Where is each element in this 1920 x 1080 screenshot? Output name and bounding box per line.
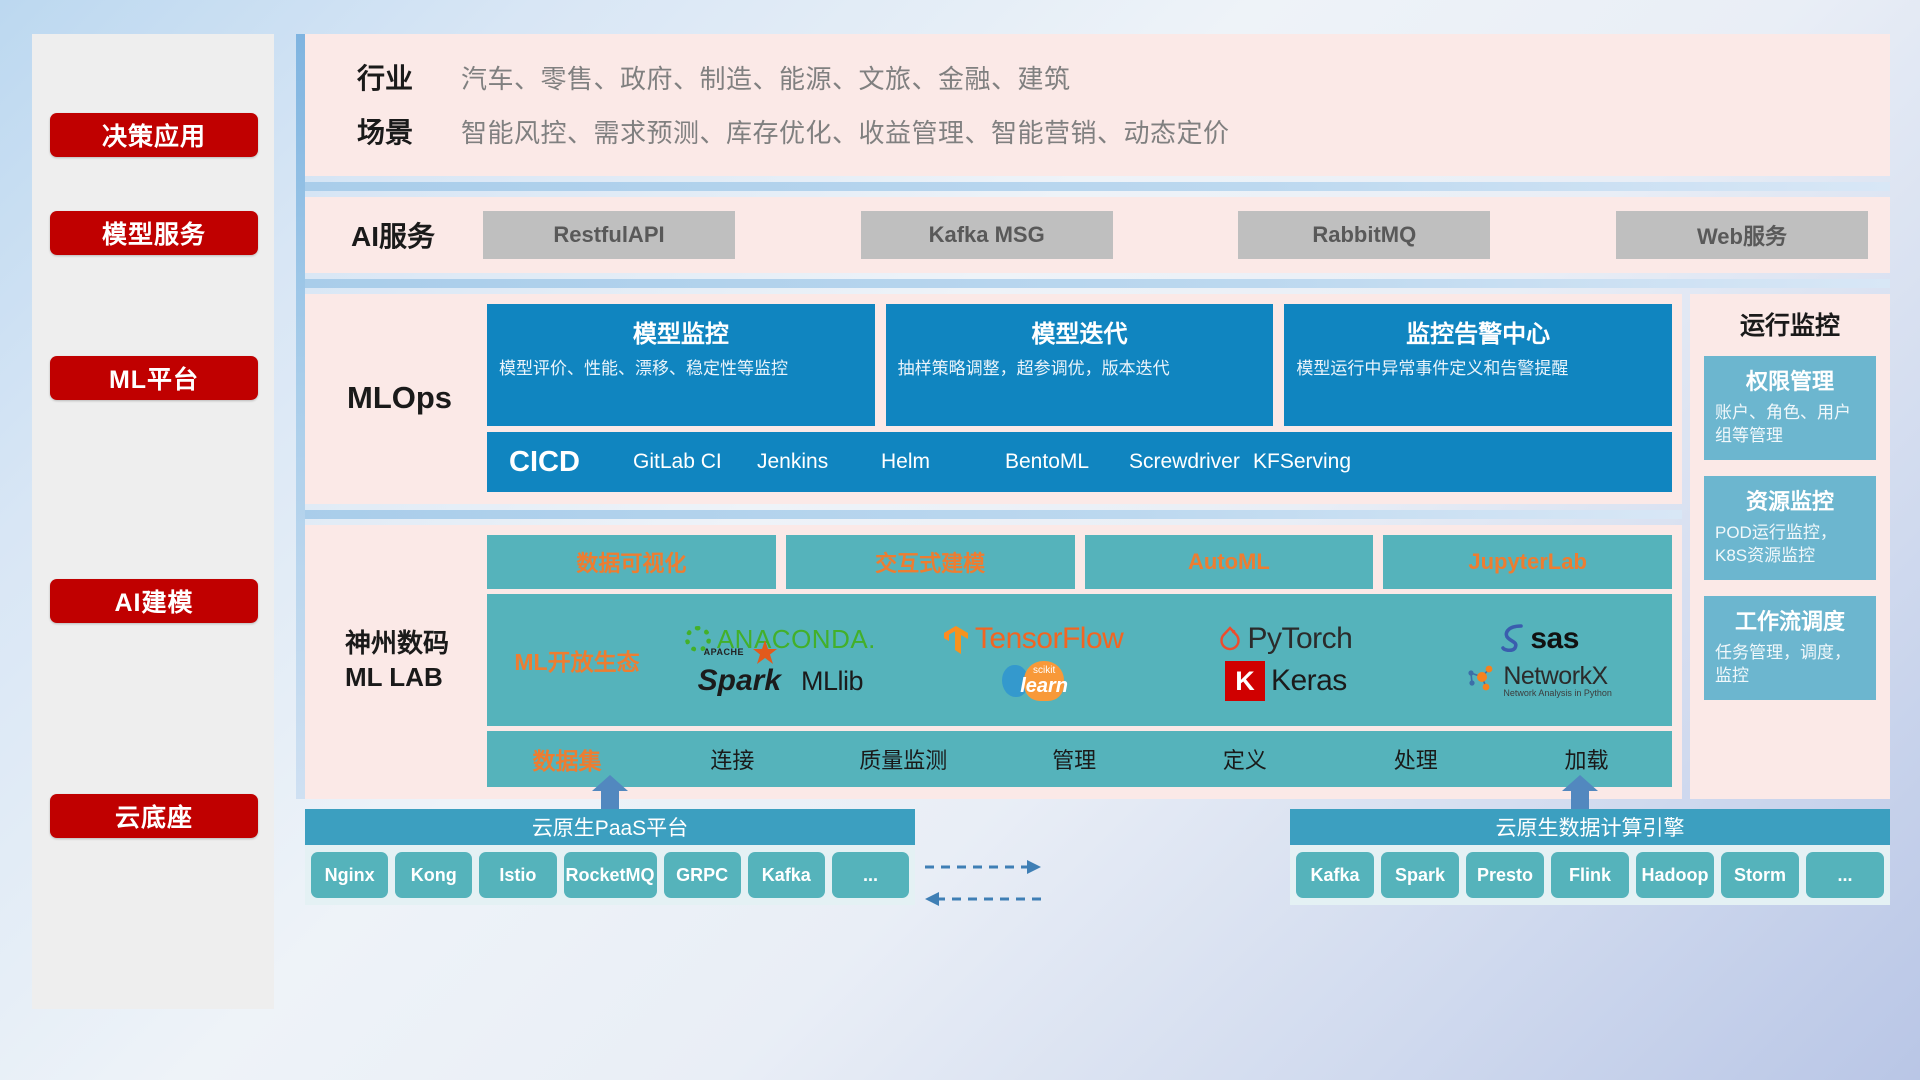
dataset-item-load[interactable]: 加载 bbox=[1501, 743, 1672, 775]
dataset-title: 数据集 bbox=[487, 742, 647, 776]
mlops-card-model-monitor[interactable]: 模型监控 模型评价、性能、漂移、稳定性等监控 bbox=[487, 304, 875, 426]
infrastructure-row: 云原生PaaS平台 Nginx Kong Istio RocketMQ GRPC… bbox=[305, 809, 1890, 944]
mlops-band: MLOps 模型监控 模型评价、性能、漂移、稳定性等监控 模型迭代 抽样 bbox=[305, 294, 1682, 504]
engine-chip-storm[interactable]: Storm bbox=[1721, 852, 1799, 898]
cicd-item-screwdriver[interactable]: Screwdriver bbox=[1129, 450, 1253, 473]
keras-letter-text: K bbox=[1235, 666, 1255, 697]
tensorflow-logo-text: TensorFlow bbox=[975, 622, 1123, 656]
service-chip-web[interactable]: Web服务 bbox=[1616, 211, 1868, 259]
paas-chip-nginx[interactable]: Nginx bbox=[311, 852, 388, 898]
engine-chip-kafka[interactable]: Kafka bbox=[1296, 852, 1374, 898]
networkx-subtitle: Network Analysis in Python bbox=[1503, 689, 1612, 698]
paas-chip-kafka[interactable]: Kafka bbox=[748, 852, 825, 898]
card-desc: 账户、角色、用户组等管理 bbox=[1715, 402, 1865, 448]
ai-service-label: AI服务 bbox=[327, 215, 483, 255]
spark-word-text: Spark bbox=[698, 664, 781, 697]
dataset-item-define[interactable]: 定义 bbox=[1159, 743, 1330, 775]
networkx-logo: NetworkX Network Analysis in Python bbox=[1465, 664, 1612, 699]
card-desc: POD运行监控，K8S资源监控 bbox=[1715, 522, 1865, 568]
tab-automl[interactable]: AutoML bbox=[1085, 535, 1374, 589]
engine-chip-flink[interactable]: Flink bbox=[1551, 852, 1629, 898]
card-title: 工作流调度 bbox=[1715, 604, 1865, 636]
tensorflow-logo: TensorFlow bbox=[943, 622, 1123, 656]
tensorflow-mark-icon bbox=[943, 625, 969, 653]
application-rows: 行业 汽车、零售、政府、制造、能源、文旅、金融、建筑 场景 智能风控、需求预测、… bbox=[331, 50, 1864, 158]
card-desc: 抽样策略调整，超参调优，版本迭代 bbox=[898, 357, 1262, 380]
paas-chips: Nginx Kong Istio RocketMQ GRPC Kafka ... bbox=[305, 845, 915, 905]
rail-item-label: 决策应用 bbox=[102, 117, 206, 153]
operations-monitor-title: 运行监控 bbox=[1704, 306, 1876, 342]
cicd-row: CICD GitLab CI Jenkins Helm BentoML Scre… bbox=[487, 432, 1672, 492]
ml-lab-tabs: 数据可视化 交互式建模 AutoML JupyterLab bbox=[487, 535, 1672, 589]
dataset-item-manage[interactable]: 管理 bbox=[989, 743, 1160, 775]
card-title: 模型迭代 bbox=[898, 314, 1262, 349]
service-chip-restful[interactable]: RestfulAPI bbox=[483, 211, 735, 259]
mlops-content: 模型监控 模型评价、性能、漂移、稳定性等监控 模型迭代 抽样策略调整，超参调优，… bbox=[487, 304, 1672, 492]
spark-star-icon: APACHE Spark bbox=[698, 664, 781, 698]
ml-lab-label-line2: ML LAB bbox=[345, 662, 443, 692]
paas-chip-rocketmq[interactable]: RocketMQ bbox=[564, 852, 657, 898]
bidirectional-dashed-arrows-icon bbox=[923, 853, 1043, 913]
keras-k-icon: K bbox=[1225, 661, 1265, 701]
cicd-items: GitLab CI Jenkins Helm BentoML Screwdriv… bbox=[633, 450, 1672, 473]
card-desc: 模型运行中异常事件定义和告警提醒 bbox=[1296, 357, 1660, 380]
mlops-label: MLOps bbox=[347, 380, 452, 416]
rail-item-ml-platform[interactable]: ML平台 bbox=[50, 356, 258, 400]
pytorch-logo-text: PyTorch bbox=[1247, 622, 1352, 656]
mlops-card-model-iteration[interactable]: 模型迭代 抽样策略调整，超参调优，版本迭代 bbox=[886, 304, 1274, 426]
paas-up-arrow-icon bbox=[590, 775, 630, 809]
engine-chip-spark[interactable]: Spark bbox=[1381, 852, 1459, 898]
networkx-graph-icon bbox=[1465, 664, 1497, 699]
tab-interactive-modeling[interactable]: 交互式建模 bbox=[786, 535, 1075, 589]
scenario-row: 场景 智能风控、需求预测、库存优化、收益管理、智能营销、动态定价 bbox=[331, 104, 1864, 158]
spark-apache-text: APACHE bbox=[704, 647, 744, 657]
paas-block: 云原生PaaS平台 Nginx Kong Istio RocketMQ GRPC… bbox=[305, 809, 915, 905]
layer-rail: 决策应用 模型服务 ML平台 AI建模 云底座 bbox=[32, 34, 274, 1009]
engine-chip-hadoop[interactable]: Hadoop bbox=[1636, 852, 1714, 898]
mlops-card-alert-center[interactable]: 监控告警中心 模型运行中异常事件定义和告警提醒 bbox=[1284, 304, 1672, 426]
ml-lab-label: 神州数码ML LAB bbox=[345, 627, 449, 695]
data-engine-block: 云原生数据计算引擎 Kafka Spark Presto Flink Hadoo… bbox=[1290, 809, 1890, 905]
data-engine-up-arrow-icon bbox=[1560, 775, 1600, 809]
dataset-item-process[interactable]: 处理 bbox=[1330, 743, 1501, 775]
monitor-card-permission[interactable]: 权限管理 账户、角色、用户组等管理 bbox=[1704, 356, 1876, 460]
ml-lab-label-line1: 神州数码 bbox=[345, 628, 449, 658]
pytorch-flame-icon bbox=[1219, 626, 1241, 652]
sas-logo-text: sas bbox=[1530, 622, 1579, 656]
rail-item-cloud-base[interactable]: 云底座 bbox=[50, 794, 258, 838]
ml-lab-label-wrap: 神州数码ML LAB bbox=[327, 535, 487, 787]
ml-lab-band: 神州数码ML LAB 数据可视化 交互式建模 AutoML JupyterLab… bbox=[305, 525, 1682, 799]
scenario-value: 智能风控、需求预测、库存优化、收益管理、智能营销、动态定价 bbox=[461, 113, 1230, 150]
main-column: 行业 汽车、零售、政府、制造、能源、文旅、金融、建筑 场景 智能风控、需求预测、… bbox=[296, 34, 1890, 1040]
monitor-card-resource[interactable]: 资源监控 POD运行监控，K8S资源监控 bbox=[1704, 476, 1876, 580]
card-title: 资源监控 bbox=[1715, 484, 1865, 516]
engine-chip-more[interactable]: ... bbox=[1806, 852, 1884, 898]
scikit-learn-mark-icon: scikit learn bbox=[1024, 661, 1064, 701]
mllib-word-text: MLlib bbox=[801, 666, 863, 697]
scikit-learn-logo: scikit learn bbox=[1002, 661, 1064, 701]
paas-chip-kong[interactable]: Kong bbox=[395, 852, 472, 898]
ml-ecosystem-logos: ANACONDA. TensorFlow bbox=[657, 619, 1662, 701]
monitor-card-workflow[interactable]: 工作流调度 任务管理，调度，监控 bbox=[1704, 596, 1876, 700]
dataset-row: 数据集 连接 质量监测 管理 定义 处理 加载 bbox=[487, 731, 1672, 787]
industry-label: 行业 bbox=[331, 57, 461, 97]
learn-word-text: learn bbox=[1020, 676, 1068, 696]
band-divider bbox=[305, 279, 1890, 288]
rail-item-label: ML平台 bbox=[109, 360, 199, 396]
scenario-label: 场景 bbox=[331, 111, 461, 151]
ai-service-items: RestfulAPI Kafka MSG RabbitMQ Web服务 bbox=[483, 211, 1868, 259]
data-engine-chips: Kafka Spark Presto Flink Hadoop Storm ..… bbox=[1290, 845, 1890, 905]
card-title: 模型监控 bbox=[499, 314, 863, 349]
cicd-item-jenkins[interactable]: Jenkins bbox=[757, 450, 881, 473]
cicd-item-gitlab[interactable]: GitLab CI bbox=[633, 450, 757, 473]
engine-chip-presto[interactable]: Presto bbox=[1466, 852, 1544, 898]
card-desc: 模型评价、性能、漂移、稳定性等监控 bbox=[499, 357, 863, 380]
application-band: 行业 汽车、零售、政府、制造、能源、文旅、金融、建筑 场景 智能风控、需求预测、… bbox=[305, 34, 1890, 176]
band-divider bbox=[296, 510, 1682, 519]
dataset-items: 连接 质量监测 管理 定义 处理 加载 bbox=[647, 743, 1672, 775]
cicd-title: CICD bbox=[509, 446, 633, 479]
service-chip-rabbitmq[interactable]: RabbitMQ bbox=[1238, 211, 1490, 259]
tab-data-visualization[interactable]: 数据可视化 bbox=[487, 535, 776, 589]
rail-item-label: 模型服务 bbox=[102, 215, 206, 251]
band-divider bbox=[305, 182, 1890, 191]
ai-service-band: AI服务 RestfulAPI Kafka MSG RabbitMQ Web服务 bbox=[305, 197, 1890, 273]
platform-and-monitor-row: MLOps 模型监控 模型评价、性能、漂移、稳定性等监控 模型迭代 抽样 bbox=[296, 294, 1890, 799]
tab-jupyterlab[interactable]: JupyterLab bbox=[1383, 535, 1672, 589]
mlops-cards: 模型监控 模型评价、性能、漂移、稳定性等监控 模型迭代 抽样策略调整，超参调优，… bbox=[487, 304, 1672, 426]
keras-logo: K Keras bbox=[1225, 661, 1347, 701]
card-title: 监控告警中心 bbox=[1296, 314, 1660, 349]
ml-lab-content: 数据可视化 交互式建模 AutoML JupyterLab ML开放生态 bbox=[487, 535, 1672, 787]
dataset-item-quality[interactable]: 质量监测 bbox=[818, 743, 989, 775]
mlops-label-wrap: MLOps bbox=[327, 304, 487, 492]
ml-ecosystem-row: ML开放生态 ANACONDA. bbox=[487, 594, 1672, 726]
ml-ecosystem-label: ML开放生态 bbox=[497, 643, 657, 677]
keras-logo-text: Keras bbox=[1271, 664, 1347, 698]
industry-value: 汽车、零售、政府、制造、能源、文旅、金融、建筑 bbox=[461, 59, 1071, 96]
architecture-diagram: 决策应用 模型服务 ML平台 AI建模 云底座 行业 汽车、零售、政府、制造、能… bbox=[0, 0, 1920, 1080]
card-title: 权限管理 bbox=[1715, 364, 1865, 396]
sas-swoosh-icon bbox=[1498, 622, 1528, 657]
industry-row: 行业 汽车、零售、政府、制造、能源、文旅、金融、建筑 bbox=[331, 50, 1864, 104]
cicd-item-helm[interactable]: Helm bbox=[881, 450, 1005, 473]
cicd-item-kfserving[interactable]: KFServing bbox=[1253, 450, 1377, 473]
dataset-item-connect[interactable]: 连接 bbox=[647, 743, 818, 775]
paas-chip-more[interactable]: ... bbox=[832, 852, 909, 898]
paas-chip-istio[interactable]: Istio bbox=[479, 852, 556, 898]
layer-stack: 行业 汽车、零售、政府、制造、能源、文旅、金融、建筑 场景 智能风控、需求预测、… bbox=[296, 34, 1890, 799]
pytorch-logo: PyTorch bbox=[1219, 622, 1352, 656]
rail-item-label: AI建模 bbox=[114, 583, 193, 619]
networkx-logo-text: NetworkX bbox=[1503, 664, 1612, 689]
cicd-item-bentoml[interactable]: BentoML bbox=[1005, 450, 1129, 473]
spark-mllib-logo: APACHE Spark MLlib bbox=[698, 664, 863, 698]
service-chip-kafka[interactable]: Kafka MSG bbox=[861, 211, 1113, 259]
card-desc: 任务管理，调度，监控 bbox=[1715, 642, 1865, 688]
rail-item-label: 云底座 bbox=[115, 798, 193, 834]
rail-item-ai-modeling[interactable]: AI建模 bbox=[50, 579, 258, 623]
rail-item-decision-app[interactable]: 决策应用 bbox=[50, 113, 258, 157]
sas-logo: sas bbox=[1498, 622, 1579, 657]
data-engine-title: 云原生数据计算引擎 bbox=[1290, 809, 1890, 845]
paas-title: 云原生PaaS平台 bbox=[305, 809, 915, 845]
paas-chip-grpc[interactable]: GRPC bbox=[664, 852, 741, 898]
rail-item-model-service[interactable]: 模型服务 bbox=[50, 211, 258, 255]
operations-monitor-column: 运行监控 权限管理 账户、角色、用户组等管理 资源监控 POD运行监控，K8S资… bbox=[1690, 294, 1890, 799]
